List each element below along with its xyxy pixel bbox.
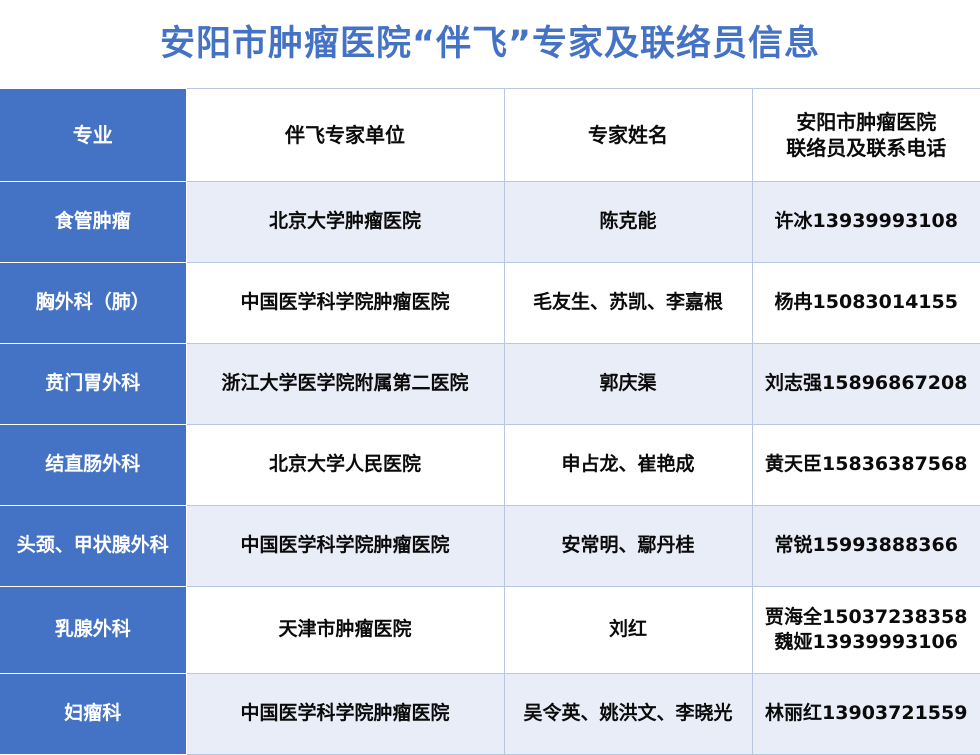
- table-row: 乳腺外科 天津市肿瘤医院 刘红 贾海全15037238358 魏娅1393999…: [0, 587, 980, 674]
- document-page: 安阳市肿瘤医院“伴飞”专家及联络员信息 专业 伴飞专家单位 专家姓名 安阳市肿瘤…: [0, 0, 980, 678]
- cell-expert: 刘红: [504, 587, 752, 674]
- cell-unit: 中国医学科学院肿瘤医院: [186, 674, 504, 755]
- column-header-contact: 安阳市肿瘤医院 联络员及联系电话: [752, 89, 980, 182]
- cell-major: 胸外科（肺）: [0, 263, 186, 344]
- table-row: 贲门胃外科 浙江大学医学院附属第二医院 郭庆渠 刘志强15896867208: [0, 344, 980, 425]
- table-row: 结直肠外科 北京大学人民医院 申占龙、崔艳成 黄天臣15836387568: [0, 425, 980, 506]
- title-bar: 安阳市肿瘤医院“伴飞”专家及联络员信息: [0, 0, 980, 88]
- cell-unit: 中国医学科学院肿瘤医院: [186, 506, 504, 587]
- cell-contact-line2: 魏娅13939993106: [759, 630, 975, 655]
- cell-contact: 黄天臣15836387568: [752, 425, 980, 506]
- column-header-major: 专业: [0, 89, 186, 182]
- cell-major: 头颈、甲状腺外科: [0, 506, 186, 587]
- cell-contact-line1: 林丽红13903721559: [759, 701, 975, 726]
- cell-major: 食管肿瘤: [0, 182, 186, 263]
- cell-expert: 郭庆渠: [504, 344, 752, 425]
- cell-major: 贲门胃外科: [0, 344, 186, 425]
- cell-contact-line1: 杨冉15083014155: [759, 290, 975, 315]
- cell-contact: 常锐15993888366: [752, 506, 980, 587]
- cell-contact: 林丽红13903721559: [752, 674, 980, 755]
- cell-unit: 中国医学科学院肿瘤医院: [186, 263, 504, 344]
- cell-expert: 申占龙、崔艳成: [504, 425, 752, 506]
- cell-contact: 许冰13939993108: [752, 182, 980, 263]
- column-header-expert: 专家姓名: [504, 89, 752, 182]
- table-row: 头颈、甲状腺外科 中国医学科学院肿瘤医院 安常明、鄢丹桂 常锐159938883…: [0, 506, 980, 587]
- cell-contact-line1: 贾海全15037238358: [759, 605, 975, 630]
- cell-contact-line1: 刘志强15896867208: [759, 371, 975, 396]
- column-header-contact-line2: 联络员及联系电话: [759, 135, 975, 161]
- expert-contact-table: 专业 伴飞专家单位 专家姓名 安阳市肿瘤医院 联络员及联系电话 食管肿瘤 北京大…: [0, 88, 980, 755]
- table-row: 食管肿瘤 北京大学肿瘤医院 陈克能 许冰13939993108: [0, 182, 980, 263]
- cell-expert: 安常明、鄢丹桂: [504, 506, 752, 587]
- cell-contact: 贾海全15037238358 魏娅13939993106: [752, 587, 980, 674]
- cell-contact-line1: 常锐15993888366: [759, 533, 975, 558]
- cell-unit: 浙江大学医学院附属第二医院: [186, 344, 504, 425]
- table-row: 胸外科（肺） 中国医学科学院肿瘤医院 毛友生、苏凯、李嘉根 杨冉15083014…: [0, 263, 980, 344]
- cell-unit: 北京大学肿瘤医院: [186, 182, 504, 263]
- cell-contact-line1: 黄天臣15836387568: [759, 452, 975, 477]
- cell-major: 妇瘤科: [0, 674, 186, 755]
- cell-expert: 毛友生、苏凯、李嘉根: [504, 263, 752, 344]
- table-header-row: 专业 伴飞专家单位 专家姓名 安阳市肿瘤医院 联络员及联系电话: [0, 89, 980, 182]
- cell-expert: 吴令英、姚洪文、李晓光: [504, 674, 752, 755]
- table-row: 妇瘤科 中国医学科学院肿瘤医院 吴令英、姚洪文、李晓光 林丽红139037215…: [0, 674, 980, 755]
- cell-expert: 陈克能: [504, 182, 752, 263]
- page-title: 安阳市肿瘤医院“伴飞”专家及联络员信息: [160, 27, 820, 62]
- column-header-unit: 伴飞专家单位: [186, 89, 504, 182]
- cell-major: 结直肠外科: [0, 425, 186, 506]
- cell-unit: 北京大学人民医院: [186, 425, 504, 506]
- cell-unit: 天津市肿瘤医院: [186, 587, 504, 674]
- cell-major: 乳腺外科: [0, 587, 186, 674]
- cell-contact-line1: 许冰13939993108: [759, 209, 975, 234]
- cell-contact: 杨冉15083014155: [752, 263, 980, 344]
- cell-contact: 刘志强15896867208: [752, 344, 980, 425]
- column-header-contact-line1: 安阳市肿瘤医院: [759, 109, 975, 135]
